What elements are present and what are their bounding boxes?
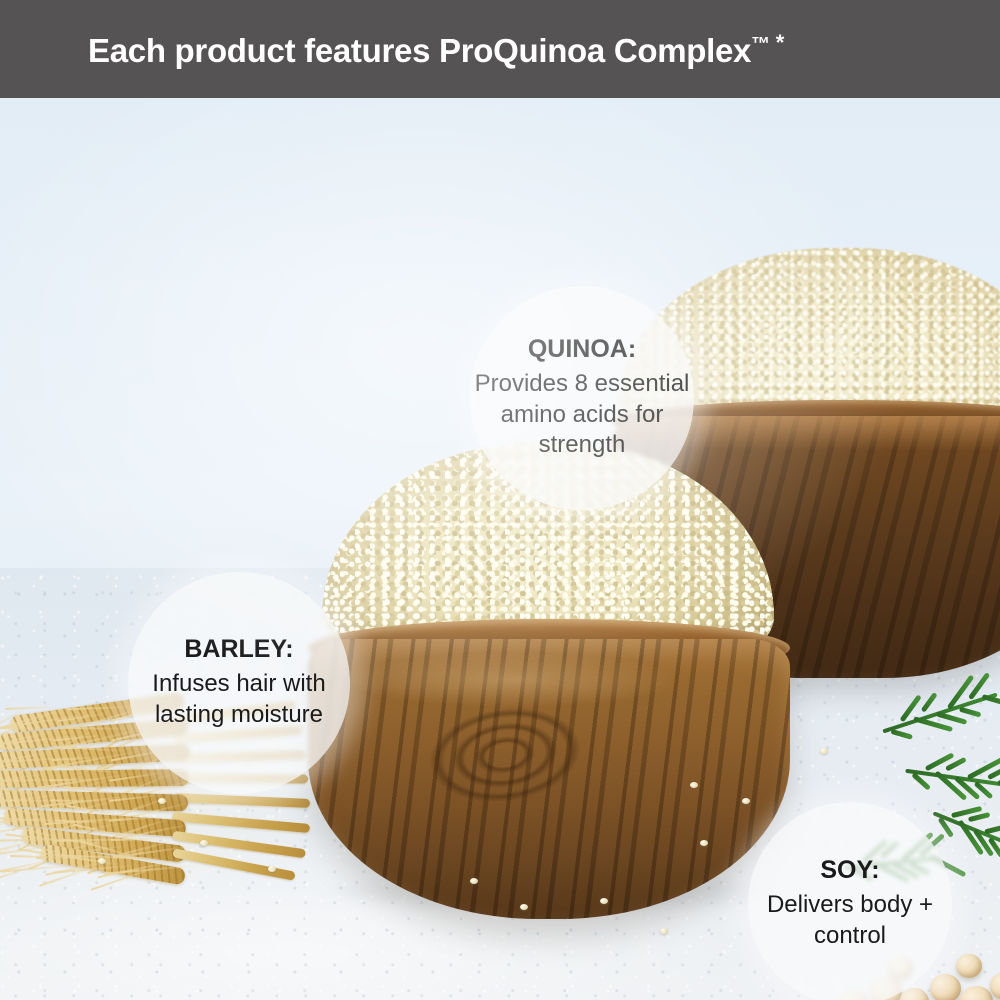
callout-barley[interactable]: BARLEY: Infuses hair with lasting moistu…	[128, 572, 350, 794]
callout-quinoa-title: QUINOA:	[528, 335, 636, 364]
trademark-symbol: ™	[751, 34, 770, 55]
callout-barley-body: Infuses hair with lasting moisture	[137, 669, 342, 730]
rosemary-needle	[982, 694, 1000, 710]
callout-quinoa-body: Provides 8 essential amino acids for str…	[475, 369, 690, 461]
soybean	[960, 986, 993, 1000]
quinoa-grain	[158, 798, 166, 804]
wooden-bowl-front	[300, 443, 800, 913]
quinoa-grain	[600, 898, 608, 904]
callout-barley-title: BARLEY:	[184, 635, 293, 664]
soybean	[930, 974, 961, 1000]
page-title: Each product features ProQuinoa Complex™…	[88, 32, 784, 67]
wheat-awn	[5, 706, 57, 710]
quinoa-grain	[98, 858, 106, 864]
header-title-text: Each product features ProQuinoa Complex	[88, 32, 751, 69]
quinoa-grain	[820, 748, 828, 754]
callout-soy[interactable]: SOY: Delivers body + control	[748, 802, 952, 1000]
product-photo-scene: QUINOA: Provides 8 essential amino acids…	[0, 98, 1000, 1000]
wheat-awn	[51, 800, 103, 802]
soybean	[956, 954, 982, 978]
quinoa-grain	[200, 840, 208, 846]
infographic-stage: Each product features ProQuinoa Complex™…	[0, 0, 1000, 1000]
quinoa-grain	[690, 782, 698, 788]
callout-soy-body: Delivers body + control	[758, 890, 943, 951]
rosemary-needle	[890, 729, 913, 740]
rosemary-needle	[984, 820, 1000, 835]
quinoa-grain	[742, 798, 750, 804]
rosemary-needle	[968, 812, 991, 822]
rosemary-needle	[959, 707, 982, 718]
header-bar: Each product features ProQuinoa Complex™…	[0, 0, 1000, 98]
bowl-front-body	[308, 639, 790, 919]
quinoa-grain	[470, 878, 478, 884]
quinoa-grain	[660, 928, 668, 934]
callout-quinoa[interactable]: QUINOA: Provides 8 essential amino acids…	[470, 286, 694, 510]
callout-soy-title: SOY:	[820, 856, 879, 885]
quinoa-grain	[700, 840, 708, 846]
asterisk-marker: *	[776, 30, 784, 55]
quinoa-grain	[268, 866, 276, 872]
quinoa-grain	[520, 904, 528, 910]
